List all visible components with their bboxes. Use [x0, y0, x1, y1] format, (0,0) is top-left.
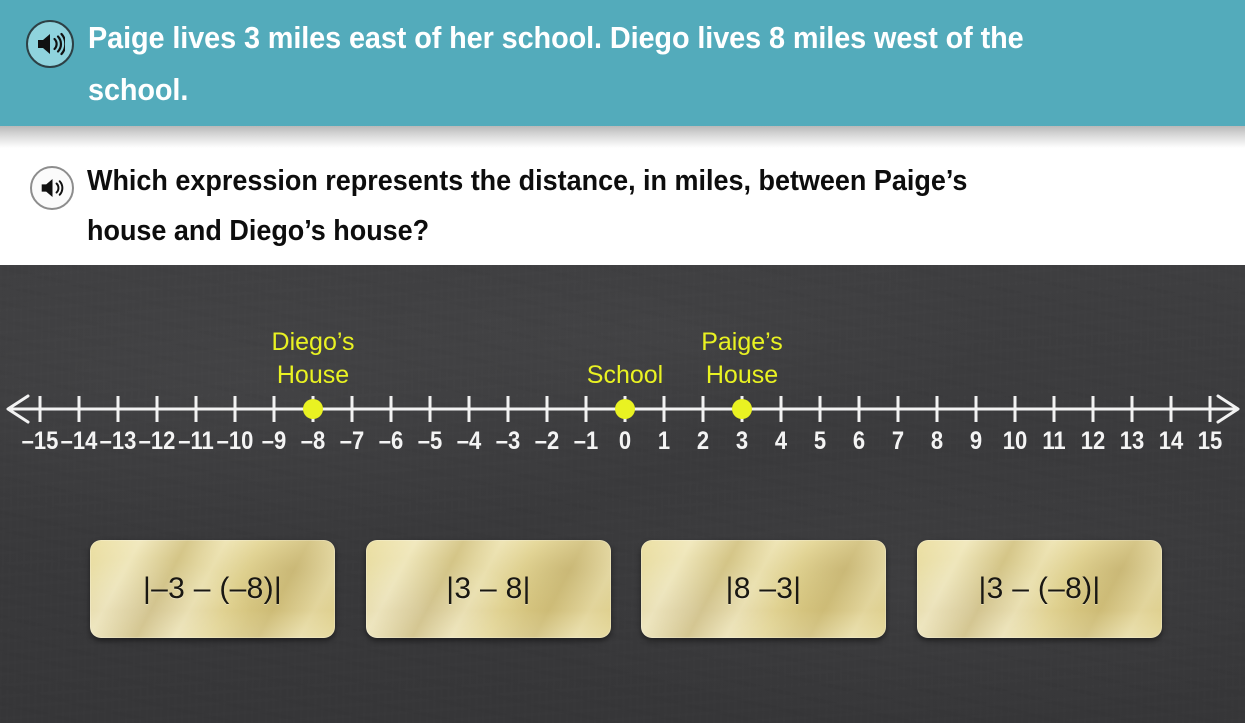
- tick-label-2: 2: [697, 427, 709, 456]
- chalkboard-panel: Diego’s HouseSchoolPaige’s House –15–14–…: [0, 265, 1245, 723]
- point-label-paiges-house: Paige’s House: [701, 326, 783, 392]
- number-line: Diego’s HouseSchoolPaige’s House –15–14–…: [0, 265, 1245, 465]
- tick-label-neg3: –3: [496, 427, 520, 456]
- number-line-point-paiges-house: [732, 399, 752, 419]
- activity-screen: Paige lives 3 miles east of her school. …: [0, 0, 1245, 723]
- tick-label-neg1: –1: [574, 427, 598, 456]
- tick-label-12: 12: [1081, 427, 1105, 456]
- tick-label-7: 7: [892, 427, 904, 456]
- tick-label-neg7: –7: [340, 427, 364, 456]
- tick-label-9: 9: [970, 427, 982, 456]
- tick-label-1: 1: [658, 427, 670, 456]
- tick-label-neg15: –15: [22, 427, 59, 456]
- tick-label-15: 15: [1198, 427, 1222, 456]
- tick-label-5: 5: [814, 427, 826, 456]
- answer-choice-list: |–3 – (–8)||3 – 8||8 –3||3 – (–8)|: [0, 540, 1245, 650]
- point-label-school: School: [587, 359, 663, 392]
- answer-choice-text: |3 – 8|: [446, 572, 530, 606]
- tick-label-neg6: –6: [379, 427, 403, 456]
- answer-choice-text: |8 –3|: [726, 572, 802, 606]
- tick-label-13: 13: [1120, 427, 1144, 456]
- answer-choice-1[interactable]: |–3 – (–8)|: [90, 540, 335, 638]
- stimulus-speaker-icon[interactable]: [26, 20, 74, 68]
- tick-label-4: 4: [775, 427, 787, 456]
- tick-label-neg8: –8: [301, 427, 325, 456]
- stimulus-banner: Paige lives 3 miles east of her school. …: [0, 0, 1245, 126]
- number-line-point-school: [615, 399, 635, 419]
- tick-label-neg13: –13: [100, 427, 137, 456]
- point-label-diegos-house: Diego’s House: [272, 326, 355, 392]
- number-line-point-diegos-house: [303, 399, 323, 419]
- answer-choice-text: |3 – (–8)|: [979, 572, 1101, 606]
- question-speaker-icon[interactable]: [30, 166, 74, 210]
- tick-label-3: 3: [736, 427, 748, 456]
- answer-choice-2[interactable]: |3 – 8|: [366, 540, 611, 638]
- tick-label-8: 8: [931, 427, 943, 456]
- tick-label-neg12: –12: [139, 427, 176, 456]
- tick-label-neg5: –5: [418, 427, 442, 456]
- tick-label-neg4: –4: [457, 427, 481, 456]
- tick-label-neg10: –10: [217, 427, 254, 456]
- tick-label-neg9: –9: [262, 427, 286, 456]
- banner-shadow-divider: [0, 126, 1245, 148]
- tick-label-10: 10: [1003, 427, 1027, 456]
- tick-label-14: 14: [1159, 427, 1183, 456]
- answer-choice-3[interactable]: |8 –3|: [641, 540, 886, 638]
- tick-label-11: 11: [1042, 427, 1065, 456]
- answer-choice-4[interactable]: |3 – (–8)|: [917, 540, 1162, 638]
- tick-label-neg11: –11: [178, 427, 214, 456]
- question-text: Which expression represents the distance…: [87, 156, 1036, 256]
- tick-label-neg2: –2: [535, 427, 559, 456]
- tick-label-neg14: –14: [61, 427, 98, 456]
- tick-label-0: 0: [619, 427, 631, 456]
- stimulus-text: Paige lives 3 miles east of her school. …: [88, 12, 1027, 116]
- answer-choice-text: |–3 – (–8)|: [143, 572, 282, 606]
- question-area: Which expression represents the distance…: [0, 148, 1245, 265]
- tick-label-6: 6: [853, 427, 865, 456]
